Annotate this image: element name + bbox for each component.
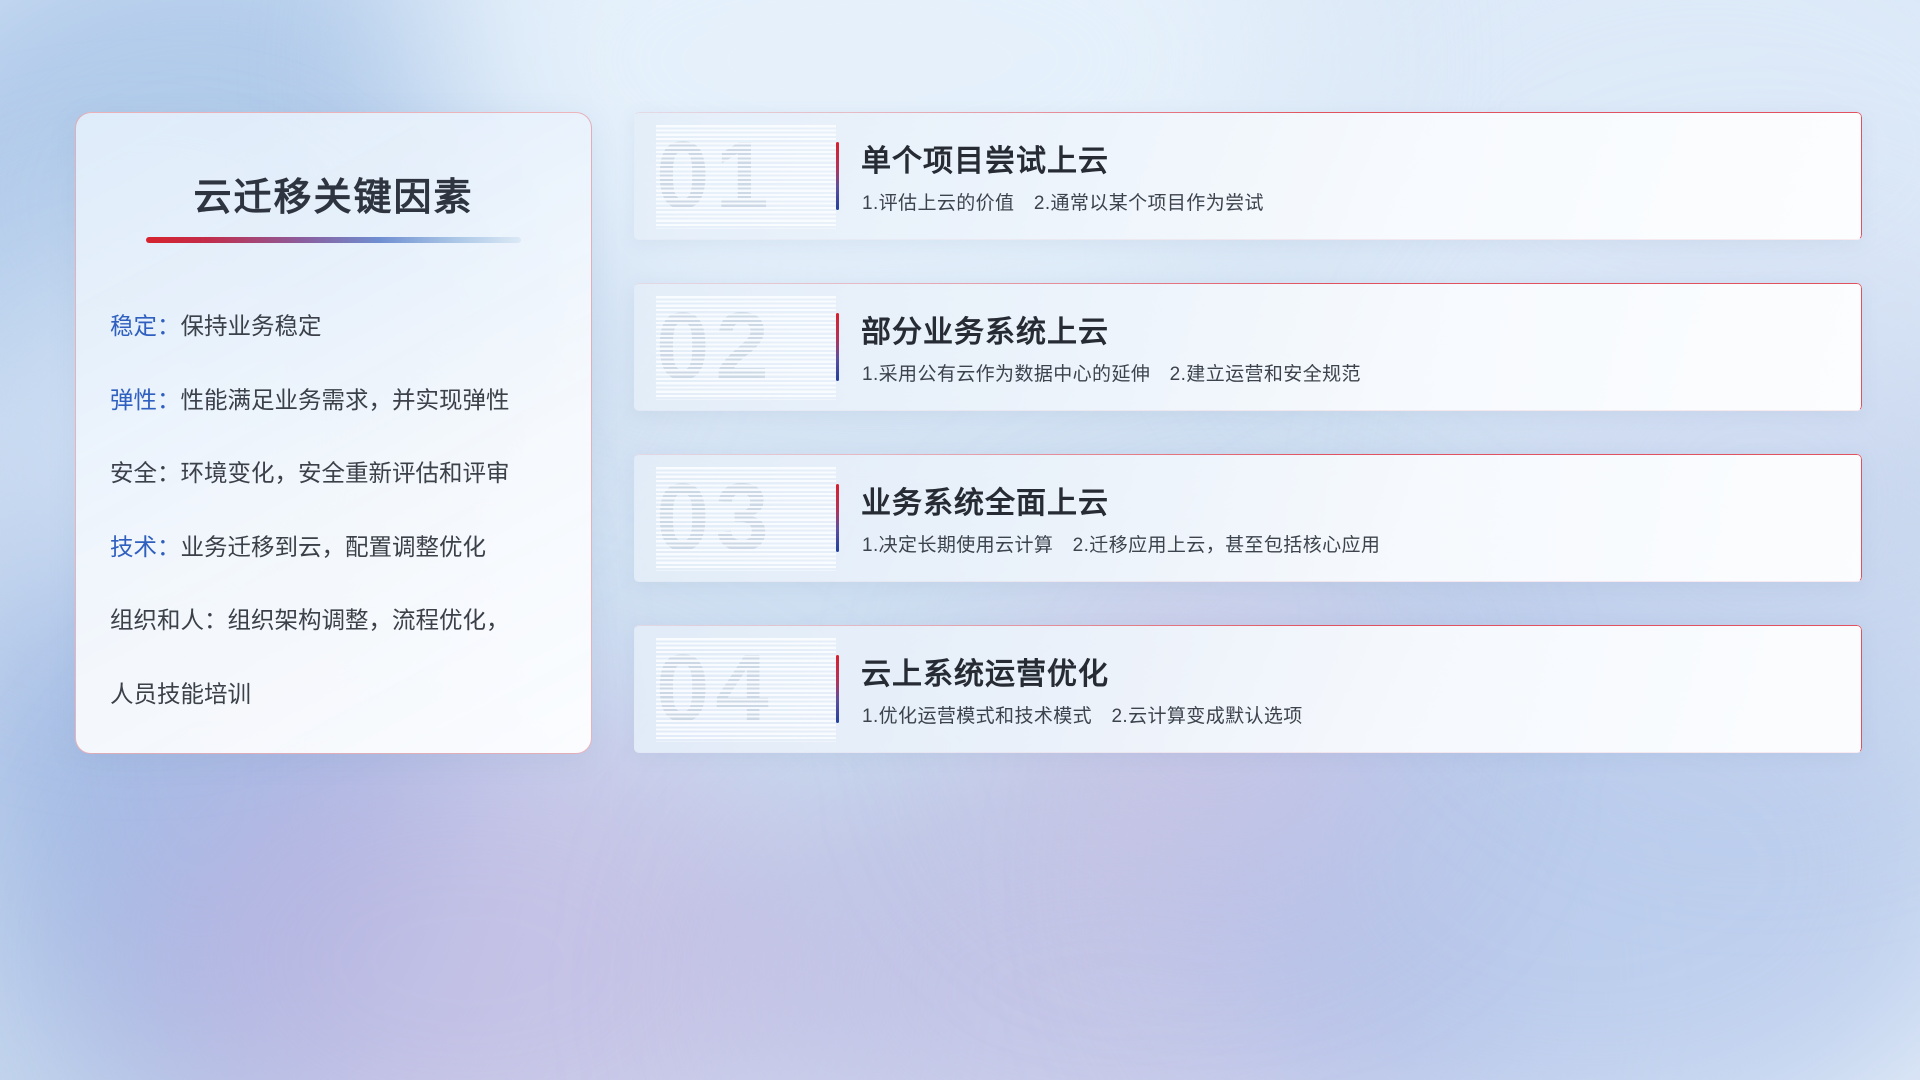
factor-label: 技术：: [110, 534, 181, 560]
stage-number-watermark: 03: [656, 465, 836, 571]
stage-number-watermark: 01: [656, 123, 836, 229]
factor-item: 弹性：性能满足业务需求，并实现弹性: [110, 389, 591, 413]
factor-item: 人员技能培训: [110, 683, 591, 707]
accent-bar: [836, 313, 839, 381]
stage-description: 1.评估上云的价值 2.通常以某个项目作为尝试: [862, 188, 1264, 215]
stage-number-text: 03: [656, 465, 836, 571]
factor-label: 稳定：: [110, 313, 181, 339]
stage-card[interactable]: 01单个项目尝试上云1.评估上云的价值 2.通常以某个项目作为尝试: [634, 112, 1862, 240]
key-factors-panel: 云迁移关键因素 稳定：保持业务稳定弹性：性能满足业务需求，并实现弹性安全：环境变…: [75, 112, 592, 754]
accent-bar: [836, 142, 839, 210]
stage-title: 云上系统运营优化: [861, 649, 1109, 693]
factor-text: 组织架构调整，流程优化，: [228, 607, 510, 633]
stage-number-text: 02: [656, 294, 836, 400]
stage-title: 部分业务系统上云: [861, 307, 1109, 351]
factor-item: 组织和人：组织架构调整，流程优化，: [110, 609, 591, 633]
migration-stage-list: 01单个项目尝试上云1.评估上云的价值 2.通常以某个项目作为尝试02部分业务系…: [634, 112, 1862, 753]
stage-number-text: 01: [656, 123, 836, 229]
stage-title: 单个项目尝试上云: [861, 136, 1109, 180]
factor-text: 人员技能培训: [110, 681, 251, 707]
stage-number-watermark: 02: [656, 294, 836, 400]
accent-bar: [836, 484, 839, 552]
stage-description: 1.决定长期使用云计算 2.迁移应用上云，甚至包括核心应用: [862, 530, 1380, 557]
stage-description: 1.优化运营模式和技术模式 2.云计算变成默认选项: [862, 701, 1303, 728]
factor-item: 稳定：保持业务稳定: [110, 315, 591, 339]
factor-label: 弹性：: [110, 387, 181, 413]
factor-label: 安全：: [110, 460, 181, 486]
factor-text: 业务迁移到云，配置调整优化: [181, 534, 487, 560]
stage-card[interactable]: 04云上系统运营优化1.优化运营模式和技术模式 2.云计算变成默认选项: [634, 625, 1862, 753]
accent-bar: [836, 655, 839, 723]
factor-text: 保持业务稳定: [181, 313, 322, 339]
stage-title: 业务系统全面上云: [861, 478, 1109, 522]
page-title: 云迁移关键因素: [76, 166, 591, 221]
factor-item: 技术：业务迁移到云，配置调整优化: [110, 536, 591, 560]
stage-card[interactable]: 03业务系统全面上云1.决定长期使用云计算 2.迁移应用上云，甚至包括核心应用: [634, 454, 1862, 582]
factor-label: 组织和人：: [110, 607, 228, 633]
stage-description: 1.采用公有云作为数据中心的延伸 2.建立运营和安全规范: [862, 359, 1361, 386]
stage-number-text: 04: [656, 636, 836, 742]
factor-text: 性能满足业务需求，并实现弹性: [181, 387, 510, 413]
stage-number-watermark: 04: [656, 636, 836, 742]
stage-card[interactable]: 02部分业务系统上云1.采用公有云作为数据中心的延伸 2.建立运营和安全规范: [634, 283, 1862, 411]
factor-list: 稳定：保持业务稳定弹性：性能满足业务需求，并实现弹性安全：环境变化，安全重新评估…: [76, 315, 591, 706]
factor-item: 安全：环境变化，安全重新评估和评审: [110, 462, 591, 486]
title-underline: [146, 237, 521, 243]
factor-text: 环境变化，安全重新评估和评审: [181, 460, 510, 486]
